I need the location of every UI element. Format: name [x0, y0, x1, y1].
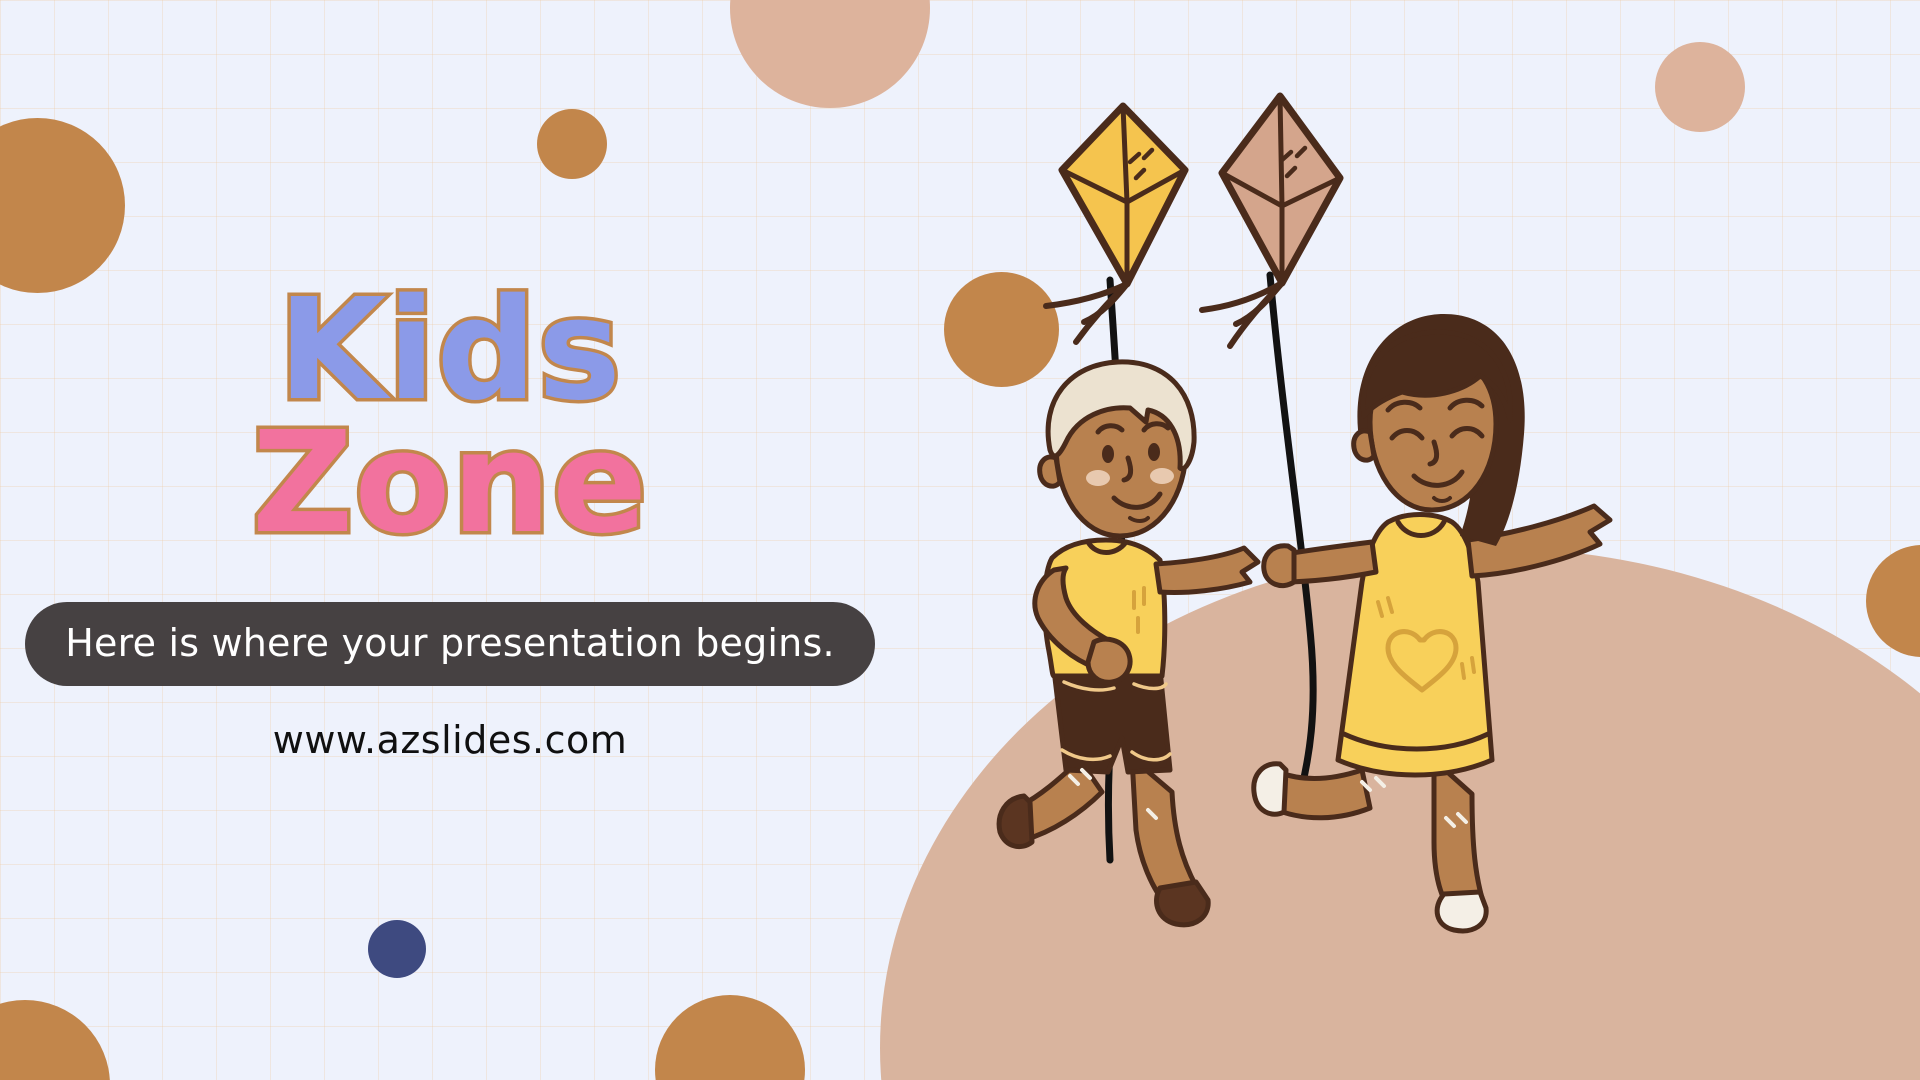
boy-front-leg	[1132, 758, 1196, 900]
kids-kites-illustration	[1010, 70, 1920, 1080]
girl-left-hand	[1264, 546, 1294, 586]
boy-right-arm	[1156, 548, 1258, 593]
kite-yellow	[1046, 106, 1185, 342]
girl-front-leg	[1434, 760, 1482, 904]
boy-character	[999, 362, 1258, 925]
girl-front-shoe	[1437, 892, 1486, 931]
kite-rose-tail	[1202, 283, 1282, 346]
title-text-block: Kids Zone Here is where your presentatio…	[0, 280, 900, 762]
boy-ear	[1040, 457, 1060, 486]
circle-bottom-mid-camel	[655, 995, 805, 1080]
subtitle-pill: Here is where your presentation begins.	[25, 602, 875, 686]
girl-ear	[1354, 431, 1374, 460]
slide-canvas: Kids Zone Here is where your presentatio…	[0, 0, 1920, 1080]
boy-back-shoe	[999, 796, 1032, 847]
kite-string-right	[1270, 275, 1313, 810]
website-url[interactable]: www.azslides.com	[0, 718, 900, 762]
boy-front-shoe	[1157, 882, 1209, 925]
circle-bottom-left-camel	[0, 1000, 110, 1080]
circle-top-mid-rose	[730, 0, 930, 108]
subtitle-text: Here is where your presentation begins.	[65, 621, 835, 665]
circle-top-small-camel	[537, 109, 607, 179]
circle-top-left-camel	[0, 118, 125, 293]
title-line-zone: Zone	[0, 413, 900, 556]
page-title: Kids Zone	[0, 280, 900, 556]
circle-navy-lower	[368, 920, 426, 978]
boy-left-hand	[1088, 639, 1130, 682]
girl-back-shoe	[1254, 764, 1286, 814]
